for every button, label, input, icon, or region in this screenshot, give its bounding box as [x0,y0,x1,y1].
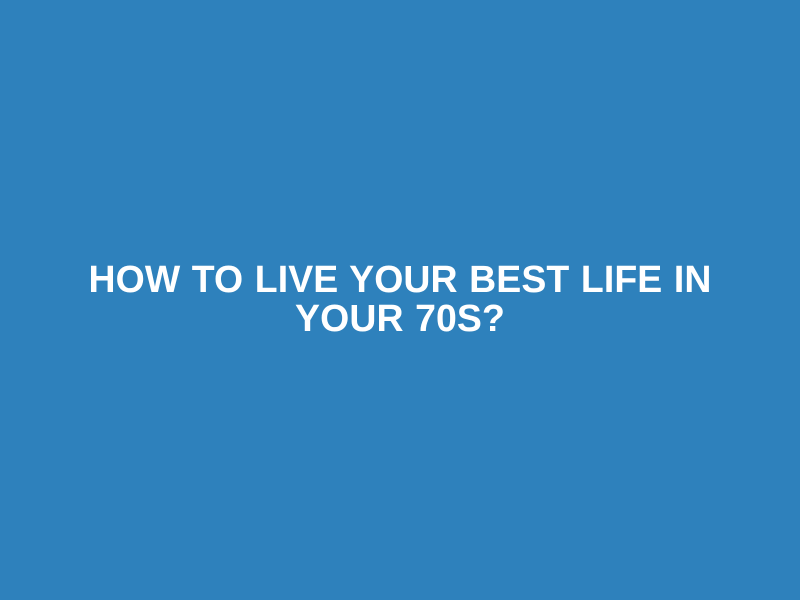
page-title: HOW TO LIVE YOUR BEST LIFE IN YOUR 70S? [75,261,725,339]
featured-image-banner: HOW TO LIVE YOUR BEST LIFE IN YOUR 70S? [0,0,800,600]
banner-content: HOW TO LIVE YOUR BEST LIFE IN YOUR 70S? [70,261,730,339]
